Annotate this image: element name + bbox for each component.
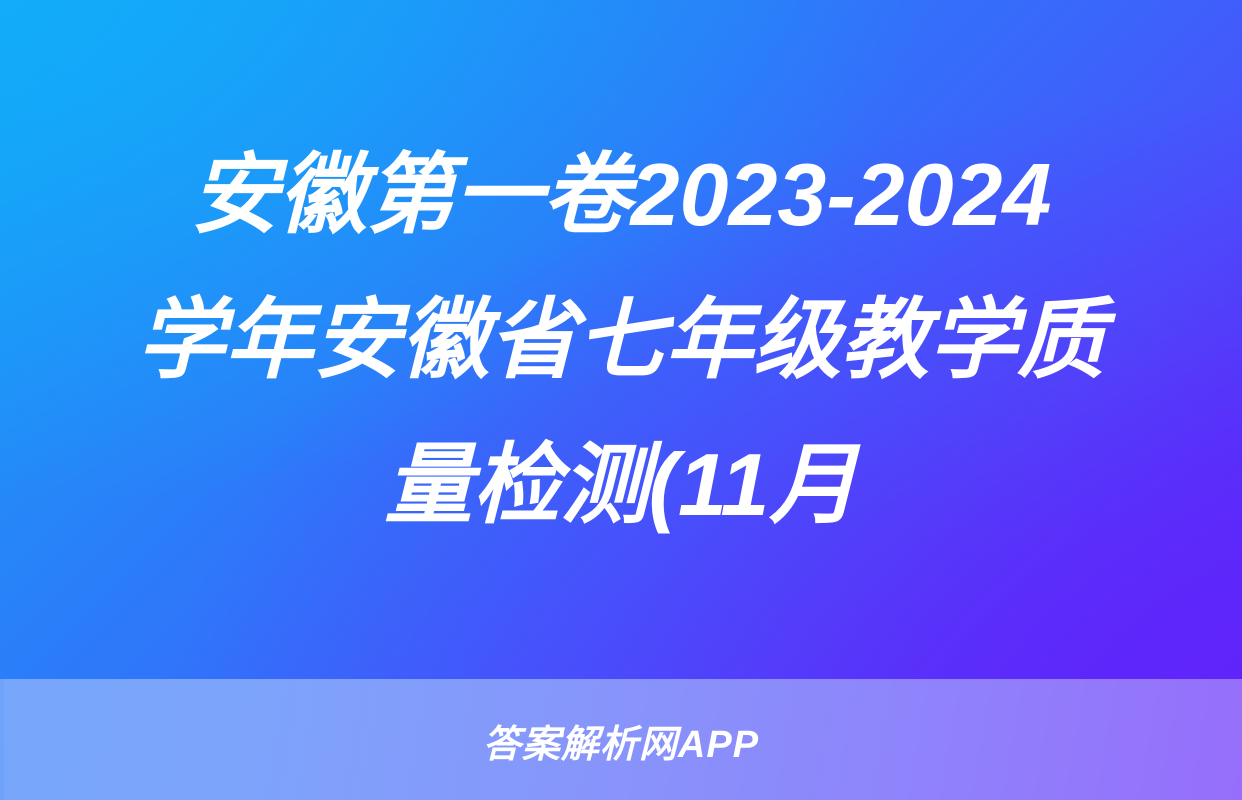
title-line-3: 量检测(11月 xyxy=(61,412,1181,557)
title-line-2: 学年安徽省七年级教学质 xyxy=(61,267,1181,412)
footer-brand-band: 答案解析网APP xyxy=(0,679,1242,800)
title-line-1: 安徽第一卷2023-2024 xyxy=(61,122,1181,267)
poster-canvas: 安徽第一卷2023-2024 学年安徽省七年级教学质 量检测(11月 答案解析网… xyxy=(0,0,1242,800)
hero-content: 安徽第一卷2023-2024 学年安徽省七年级教学质 量检测(11月 xyxy=(0,0,1242,679)
page-title: 安徽第一卷2023-2024 学年安徽省七年级教学质 量检测(11月 xyxy=(61,122,1181,557)
footer-brand-label: 答案解析网APP xyxy=(483,713,759,768)
footer-left-edge-strip xyxy=(0,679,4,800)
hero-gradient-background: 安徽第一卷2023-2024 学年安徽省七年级教学质 量检测(11月 xyxy=(0,0,1242,679)
